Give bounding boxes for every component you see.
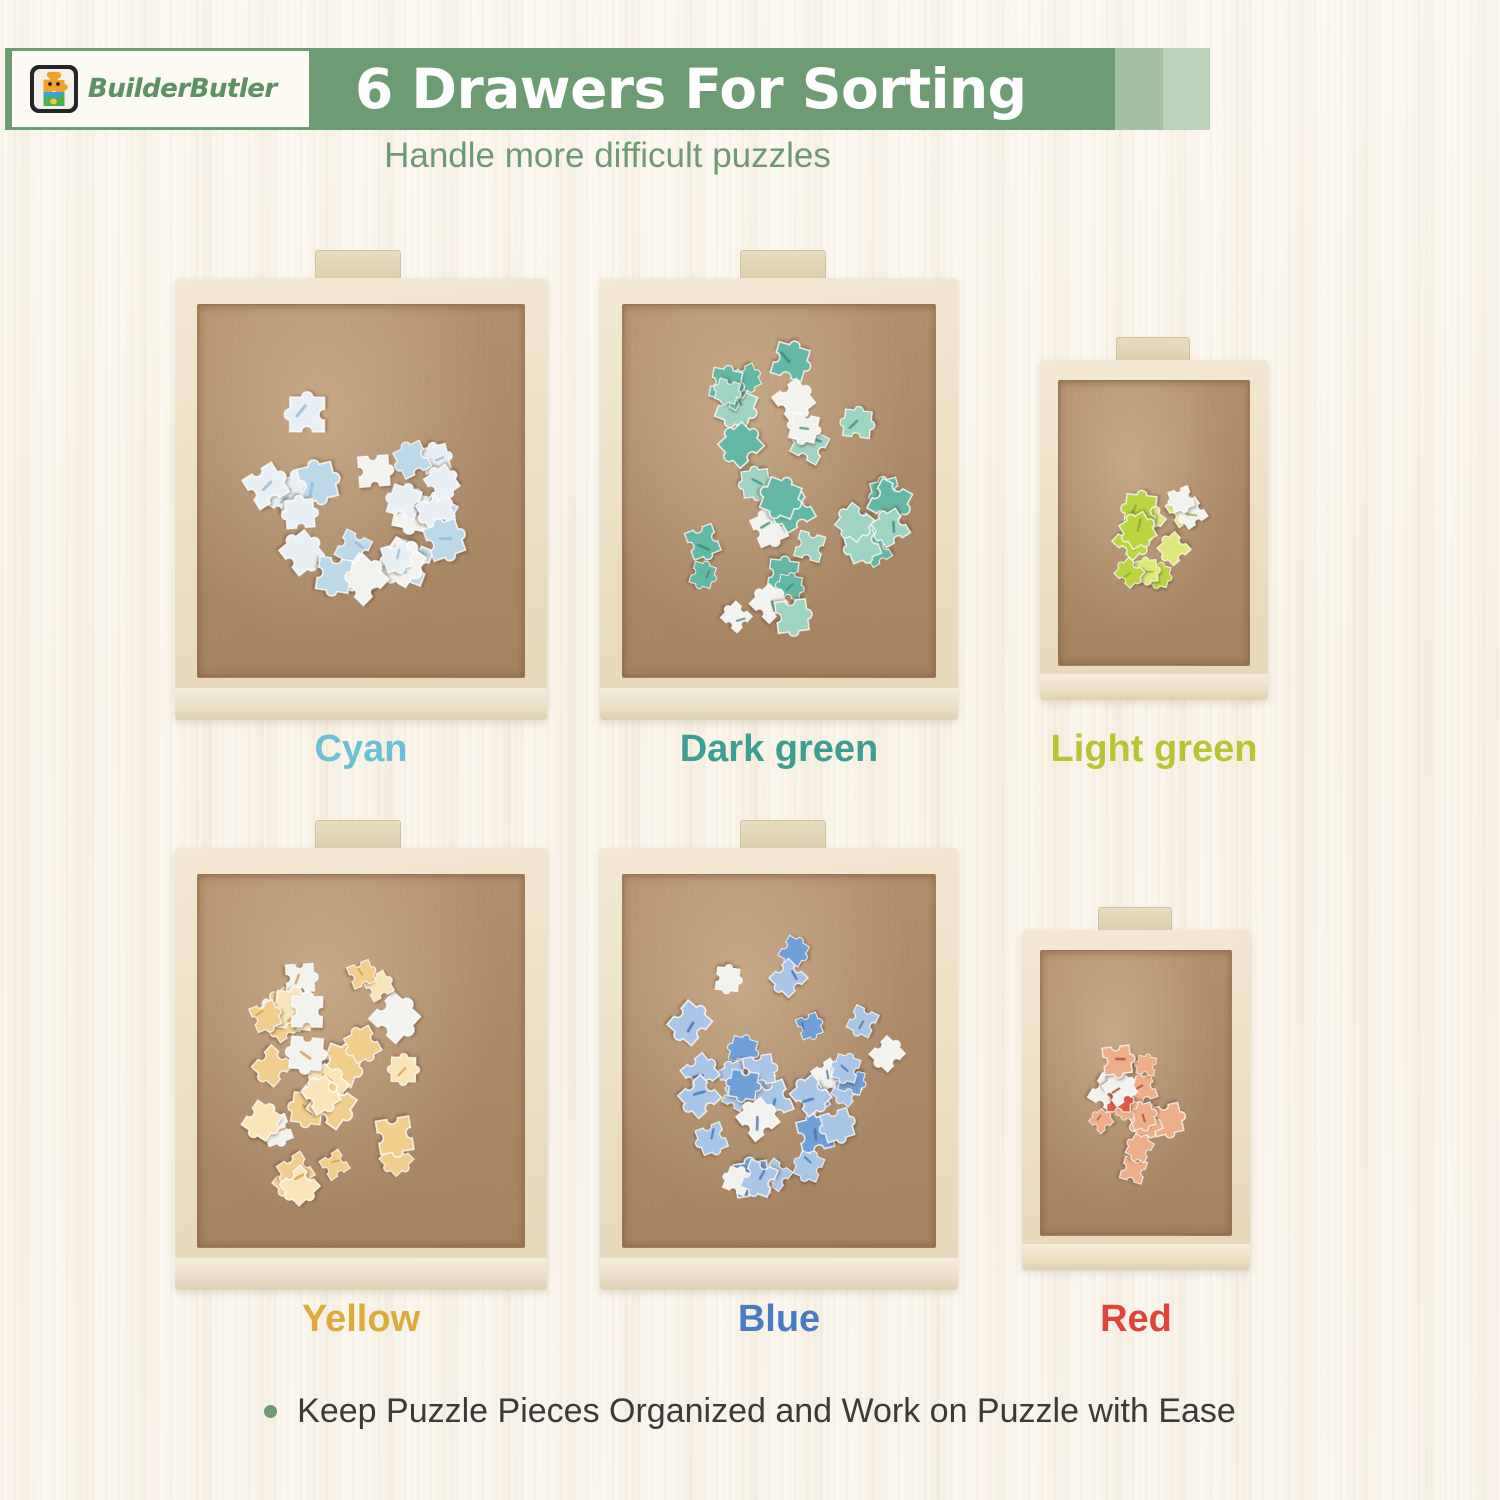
drawer-body-dark-green[interactable] xyxy=(600,278,958,720)
drawer-cell-cyan: Cyan xyxy=(175,250,547,770)
puzzle-pieces-dark-green xyxy=(623,305,935,677)
drawer-label-blue: Blue xyxy=(600,1298,958,1341)
drawer-label-cyan: Cyan xyxy=(175,728,547,771)
drawer-cell-blue: Blue xyxy=(600,820,958,1340)
drawer-cell-red: Red xyxy=(1022,907,1250,1340)
drawer-label-red: Red xyxy=(1010,1298,1262,1341)
drawer-front-lip-red xyxy=(1022,1244,1250,1270)
drawer-body-light-green[interactable] xyxy=(1040,360,1268,700)
drawer-front-lip-dark-green xyxy=(600,688,958,720)
drawer-label-light-green: Light green xyxy=(1028,728,1280,771)
puzzle-pieces-light-green xyxy=(1059,381,1249,665)
drawer-front-lip-cyan xyxy=(175,688,547,720)
drawer-body-yellow[interactable] xyxy=(175,848,547,1290)
drawer-front-lip-blue xyxy=(600,1258,958,1290)
drawer-cell-dark-green: Dark green xyxy=(600,250,958,770)
drawer-front-lip-light-green xyxy=(1040,674,1268,700)
drawer-label-yellow: Yellow xyxy=(175,1298,547,1341)
bullet-dot-icon xyxy=(264,1405,277,1418)
footer-caption: Keep Puzzle Pieces Organized and Work on… xyxy=(297,1392,1236,1431)
drawer-body-red[interactable] xyxy=(1022,930,1250,1270)
drawer-cell-light-green: Light green xyxy=(1040,337,1268,770)
puzzle-pieces-blue xyxy=(623,875,935,1247)
footer: Keep Puzzle Pieces Organized and Work on… xyxy=(0,1392,1500,1431)
puzzle-pieces-cyan xyxy=(198,305,524,677)
drawer-interior-blue xyxy=(622,874,936,1248)
drawer-grid: Cyan Dark green xyxy=(0,0,1500,1500)
product-infographic-page: BuilderButler 6 Drawers For Sorting Hand… xyxy=(0,0,1500,1500)
drawer-interior-cyan xyxy=(197,304,525,678)
puzzle-pieces-red xyxy=(1041,951,1231,1235)
drawer-interior-yellow xyxy=(197,874,525,1248)
drawer-cell-yellow: Yellow xyxy=(175,820,547,1340)
puzzle-pieces-yellow xyxy=(198,875,524,1247)
drawer-body-cyan[interactable] xyxy=(175,278,547,720)
drawer-interior-light-green xyxy=(1058,380,1250,666)
drawer-interior-dark-green xyxy=(622,304,936,678)
drawer-interior-red xyxy=(1040,950,1232,1236)
drawer-front-lip-yellow xyxy=(175,1258,547,1290)
drawer-label-dark-green: Dark green xyxy=(600,728,958,771)
drawer-body-blue[interactable] xyxy=(600,848,958,1290)
